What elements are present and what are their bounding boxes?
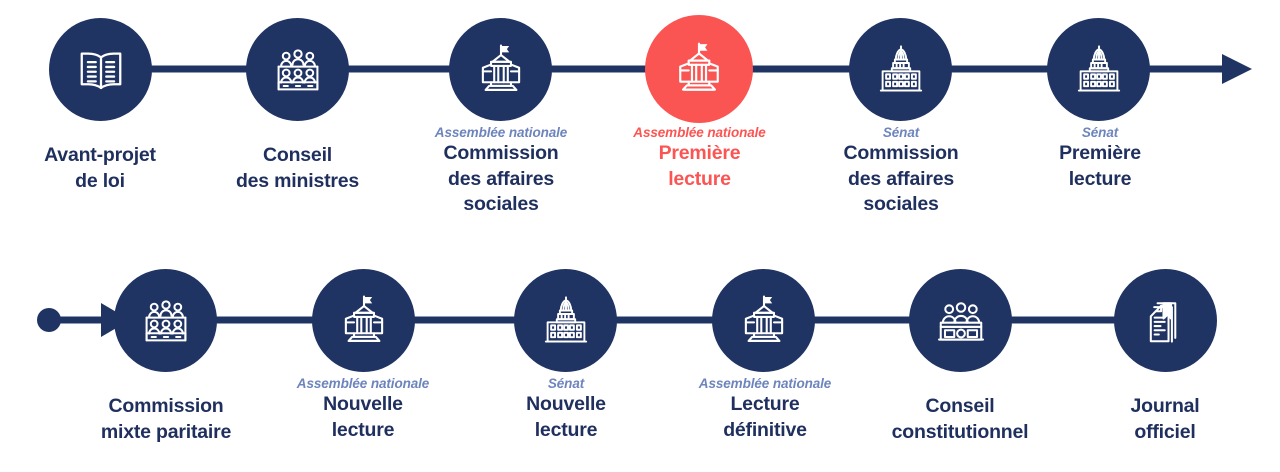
step-chamber-label: Sénat xyxy=(477,376,655,392)
step-label-block: Assemblée nationale Lecture définitive xyxy=(670,376,860,443)
step-title: Journal officiel xyxy=(1080,394,1250,445)
step-icon-circle[interactable] xyxy=(246,18,349,121)
judges-bench-icon xyxy=(934,294,988,348)
step-label-block: Assemblée nationale Première lecture xyxy=(607,125,792,192)
step-title: Première lecture xyxy=(1010,141,1190,192)
step-label-block: Commission mixte paritaire xyxy=(70,394,262,445)
step-title: Lecture définitive xyxy=(670,392,860,443)
step-label-block: Avant-projet de loi xyxy=(10,143,190,194)
step-label-block: Sénat Commission des affaires sociales xyxy=(805,125,997,218)
step-title: Commission des affaires sociales xyxy=(405,141,597,218)
step-icon-circle[interactable] xyxy=(1047,18,1150,121)
step-chamber-label: Sénat xyxy=(805,125,997,141)
step-title: Avant-projet de loi xyxy=(10,143,190,194)
step-chamber-label: Assemblée nationale xyxy=(405,125,597,141)
step-chamber-label: Assemblée nationale xyxy=(273,376,453,392)
step-chamber-label: Sénat xyxy=(1010,125,1190,141)
step-chamber-label: Assemblée nationale xyxy=(607,125,792,141)
step-label-block: Journal officiel xyxy=(1080,394,1250,445)
step-title: Conseil constitutionnel xyxy=(860,394,1060,445)
row-1-arrowhead xyxy=(1222,54,1252,84)
assemblee-nationale-building-icon xyxy=(669,39,729,99)
senat-building-icon xyxy=(873,42,929,98)
council-assembly-icon xyxy=(139,294,193,348)
step-icon-circle[interactable] xyxy=(514,269,617,372)
step-label-block: Assemblée nationale Nouvelle lecture xyxy=(273,376,453,443)
open-book-icon xyxy=(73,42,129,98)
official-documents-icon xyxy=(1139,294,1193,348)
step-label-block: Conseil des ministres xyxy=(205,143,390,194)
step-icon-circle[interactable] xyxy=(849,18,952,121)
step-label-block: Sénat Première lecture xyxy=(1010,125,1190,192)
assemblee-nationale-building-icon xyxy=(335,292,393,350)
council-assembly-icon xyxy=(271,43,325,97)
step-icon-circle[interactable] xyxy=(909,269,1012,372)
step-label-block: Assemblée nationale Commission des affai… xyxy=(405,125,597,218)
step-icon-circle[interactable] xyxy=(49,18,152,121)
step-icon-circle[interactable] xyxy=(312,269,415,372)
assemblee-nationale-building-icon xyxy=(735,292,793,350)
senat-building-icon xyxy=(1071,42,1127,98)
legislative-process-diagram: Avant-projet de loi xyxy=(0,0,1280,472)
step-icon-circle-highlighted[interactable] xyxy=(645,15,753,123)
step-title: Conseil des ministres xyxy=(205,143,390,194)
step-title: Nouvelle lecture xyxy=(273,392,453,443)
row-2-start-dot xyxy=(37,308,61,332)
step-label-block: Conseil constitutionnel xyxy=(860,394,1060,445)
step-title: Commission des affaires sociales xyxy=(805,141,997,218)
step-title: Nouvelle lecture xyxy=(477,392,655,443)
step-title: Commission mixte paritaire xyxy=(70,394,262,445)
step-title: Première lecture xyxy=(607,141,792,192)
step-chamber-label: Assemblée nationale xyxy=(670,376,860,392)
step-icon-circle[interactable] xyxy=(114,269,217,372)
step-icon-circle[interactable] xyxy=(1114,269,1217,372)
step-icon-circle[interactable] xyxy=(449,18,552,121)
assemblee-nationale-building-icon xyxy=(472,41,530,99)
step-icon-circle[interactable] xyxy=(712,269,815,372)
step-label-block: Sénat Nouvelle lecture xyxy=(477,376,655,443)
senat-building-icon xyxy=(538,293,594,349)
